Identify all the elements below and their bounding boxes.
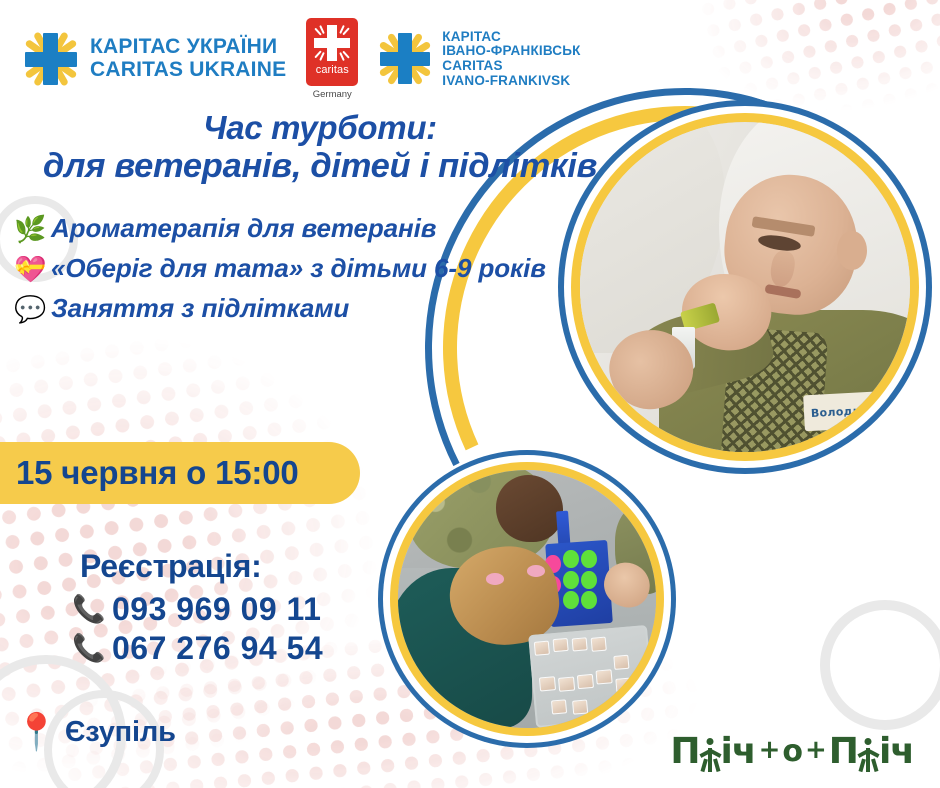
logo-line-ua-2: ІВАНО-ФРАНКІВСЬК: [442, 44, 580, 59]
footer-logo-letter-p: П: [670, 731, 699, 772]
footer-logo-middle-o: о: [782, 734, 802, 770]
photo-pompom: [563, 550, 578, 568]
phone-number[interactable]: 067 276 94 54: [112, 630, 323, 667]
logo-ivano-frankivsk-text: КАРІТАС ІВАНО-ФРАНКІВСЬК CARITAS IVANO-F…: [442, 30, 580, 88]
logo-line-en-2: IVANO-FRANKIVSK: [442, 74, 580, 89]
footer-logo-plus: +: [756, 735, 783, 768]
footer-logo-letters-ich: іч: [879, 731, 914, 772]
footer-logo-plich-o-plich: П іч + о + П іч: [670, 731, 914, 772]
logo-caritas-germany: caritas Germany: [306, 18, 358, 100]
photo-hair-tie: [486, 573, 504, 585]
footer-logo-letters-ich: іч: [721, 731, 756, 772]
heart-ribbon-icon: 💝: [14, 256, 44, 282]
list-item: 🌿 Ароматерапія для ветеранів: [14, 213, 594, 244]
phone-ringing-icon: 📞: [72, 596, 106, 623]
photo-photo-cards: [528, 625, 654, 728]
header-logos: КАРІТАС УКРАЇНИ CARITAS UKRAINE: [22, 18, 581, 100]
list-item-label: Ароматерапія для ветеранів: [51, 213, 436, 244]
aroma-oil-bottle-icon: 🌿: [14, 216, 44, 242]
location-block: 📍 Єзупіль: [14, 714, 176, 750]
activity-list: 🌿 Ароматерапія для ветеранів 💝 «Оберіг д…: [14, 213, 594, 333]
footer-logo-part-2: П іч: [829, 731, 914, 772]
list-item: 💝 «Оберіг для тата» з дітьми 6-9 років: [14, 253, 594, 284]
person-figure-icon: [700, 738, 721, 772]
photo-hair-tie: [527, 565, 545, 577]
logo-caritas-ukraine: КАРІТАС УКРАЇНИ CARITAS UKRAINE: [22, 31, 286, 87]
caritas-cross-icon: [378, 32, 432, 86]
caritas-cross-icon: [22, 31, 80, 87]
caritas-germany-country: Germany: [313, 89, 352, 100]
caritas-germany-wordmark: caritas: [316, 64, 349, 76]
event-date-text: 15 червня о 15:00: [16, 454, 299, 492]
photo-pompom: [581, 591, 596, 609]
location-city: Єзупіль: [65, 716, 176, 749]
title-line-2: для ветеранів, дітей і підлітків: [0, 147, 640, 186]
list-item-label: «Оберіг для тата» з дітьми 6-9 років: [51, 253, 546, 284]
decorative-ring: [820, 600, 940, 730]
logo-caritas-ukraine-text: КАРІТАС УКРАЇНИ CARITAS UKRAINE: [90, 36, 286, 81]
caritas-germany-tile: caritas: [306, 18, 358, 86]
registration-block: Реєстрація: 📞 093 969 09 11 📞 067 276 94…: [72, 548, 472, 667]
person-figure-icon: [858, 738, 879, 772]
logo-line-en-1: CARITAS: [442, 59, 580, 74]
registration-title: Реєстрація:: [72, 548, 472, 585]
photo-child-hair-dark: [496, 475, 563, 542]
phone-row[interactable]: 📞 067 276 94 54: [72, 630, 472, 667]
caritas-germany-cross-icon: [312, 23, 352, 63]
logo-line-ua: КАРІТАС УКРАЇНИ: [90, 36, 286, 59]
list-item-label: Заняття з підлітками: [51, 293, 349, 324]
footer-logo-part-1: П іч: [670, 731, 755, 772]
logo-line-ua-1: КАРІТАС: [442, 30, 580, 45]
title-line-1: Час турботи:: [0, 110, 640, 147]
phone-row[interactable]: 📞 093 969 09 11: [72, 591, 472, 628]
photo-pompom: [563, 591, 578, 609]
list-item: 💬 Заняття з підлітками: [14, 293, 594, 324]
phone-number[interactable]: 093 969 09 11: [112, 591, 321, 628]
poster-canvas: Володимир: [0, 0, 940, 788]
event-date-banner: 15 червня о 15:00: [0, 442, 360, 504]
speech-bubbles-icon: 💬: [14, 296, 44, 322]
photo-name-tag: Володимир: [804, 390, 895, 431]
footer-logo-letter-p: П: [829, 731, 858, 772]
map-pin-icon: 📍: [14, 714, 59, 750]
photo-pompom: [581, 571, 596, 589]
photo-pompom: [563, 571, 578, 589]
page-title: Час турботи: для ветеранів, дітей і підл…: [0, 110, 640, 186]
photo-pompom: [581, 550, 596, 568]
logo-caritas-ivano-frankivsk: КАРІТАС ІВАНО-ФРАНКІВСЬК CARITAS IVANO-F…: [378, 30, 580, 88]
footer-logo-plus: +: [802, 735, 829, 768]
phone-ringing-icon: 📞: [72, 635, 106, 662]
logo-line-en: CARITAS UKRAINE: [90, 59, 286, 82]
photo-card-tray: [528, 625, 654, 728]
